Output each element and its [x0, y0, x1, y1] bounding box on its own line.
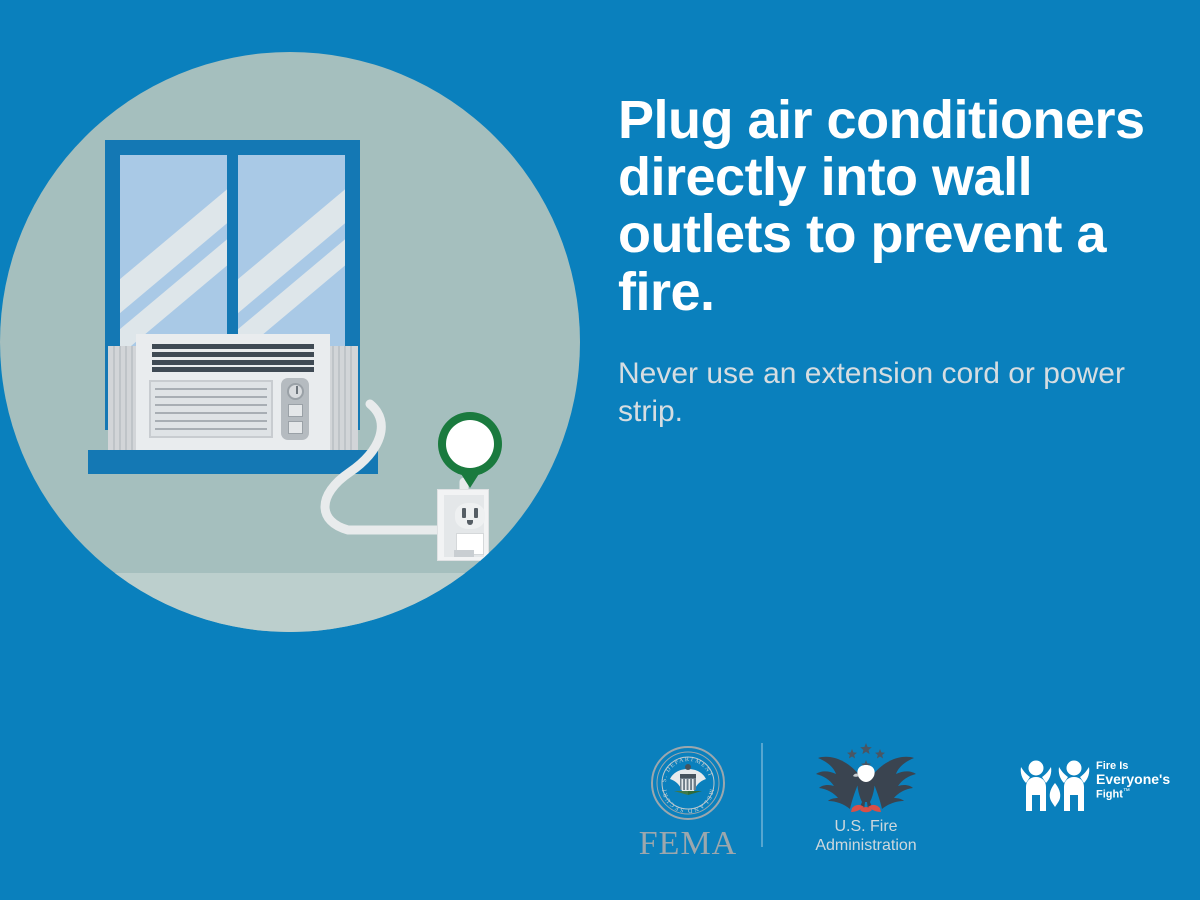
wall-outlet	[437, 489, 489, 561]
outlet-ground-hole	[467, 520, 473, 525]
footer-divider	[761, 743, 763, 847]
subheadline: Never use an extension cord or power str…	[618, 355, 1158, 432]
illustration	[0, 52, 580, 632]
fema-logo: U.S. DEPARTMENT OF HOMELAND SECURITY	[614, 743, 762, 865]
outlet-socket-upper	[455, 503, 485, 529]
usfa-line-2: Administration	[790, 837, 942, 856]
outlet-slot	[462, 508, 466, 518]
usfa-logo: U.S. Fire Administration	[790, 740, 942, 865]
power-cord	[0, 52, 580, 632]
usfa-flame	[851, 805, 881, 812]
feif-wordmark: Fire Is Everyone's Fight™	[1096, 760, 1166, 801]
feif-figures-icon	[1018, 753, 1092, 815]
feif-line-3: Fight™	[1096, 788, 1166, 801]
headline: Plug air conditioners directly into wall…	[618, 92, 1158, 321]
trademark-symbol: ™	[1123, 788, 1130, 795]
usfa-eagle-icon	[790, 740, 942, 818]
footer-logo-bar: U.S. DEPARTMENT OF HOMELAND SECURITY	[0, 735, 1200, 865]
outlet-slot	[474, 508, 478, 518]
seal-eagle-emblem	[670, 764, 706, 795]
plug-base	[454, 550, 474, 557]
outlet-faceplate-inner	[444, 495, 484, 557]
feif-line-2: Everyone's	[1096, 772, 1166, 788]
text-column: Plug air conditioners directly into wall…	[618, 92, 1158, 432]
fema-wordmark: FEMA	[614, 825, 762, 863]
feif-logo: Fire Is Everyone's Fight™	[1018, 753, 1166, 821]
scene-circle-background	[0, 52, 580, 632]
dhs-seal: U.S. DEPARTMENT OF HOMELAND SECURITY	[614, 743, 762, 823]
usfa-line-1: U.S. Fire	[790, 818, 942, 837]
usfa-wordmark: U.S. Fire Administration	[790, 818, 942, 856]
green-check-badge	[434, 410, 506, 488]
